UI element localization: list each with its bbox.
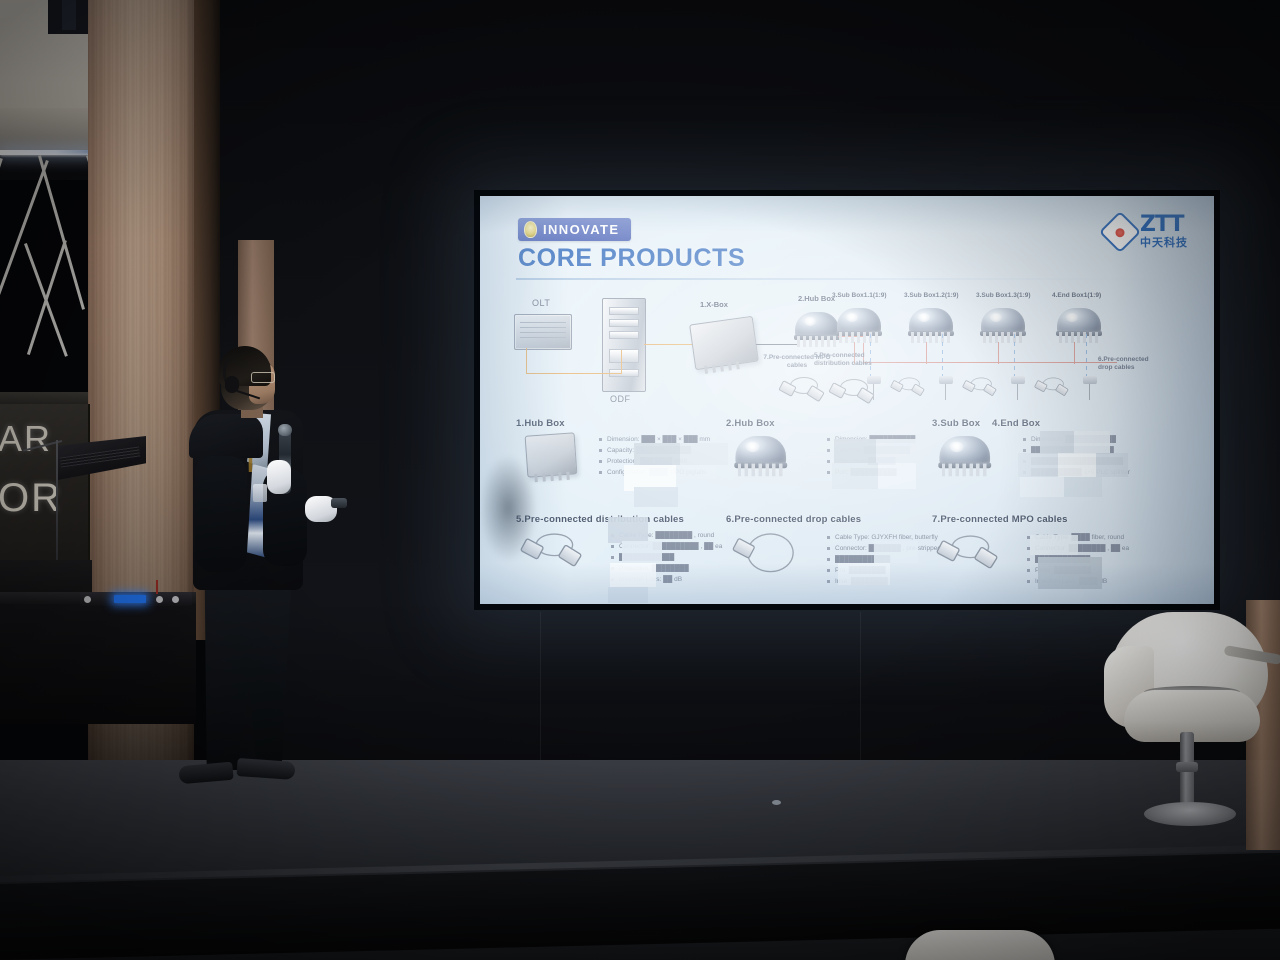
presenter [175,346,350,810]
presenter-shoulder [189,414,263,458]
sub-box-1-2-icon [906,308,956,344]
card-end-box-4: 4.End Box Dimension: ███████████ ███████… [992,418,1040,429]
sub-box-icon [936,436,1005,487]
venue-sign: AR OR [0,404,90,564]
drop-cable-icon-2 [963,377,995,394]
topology-label-xbox: 1.X-Box [700,300,728,309]
presentation-clicker [331,498,347,508]
microphone-head [278,424,292,436]
card-title: 1.Hub Box [516,418,565,429]
presenter-legs [199,584,295,770]
bullet: Prote: ████████ [1026,565,1129,576]
bullet: Insertion Loss: ██ dB [610,574,722,585]
card-bullets: Dimension: ███ × ███ × ███ mm Capacity: … [598,434,710,478]
innovate-badge-label: INNOVATE [543,222,619,237]
drop-pedestal-icon-1 [860,376,890,402]
drop-pedestal-icon-3 [1004,376,1034,402]
card-mpo-cables-7: 7.Pre-connected MPO cables Cable Type: █… [932,514,1068,525]
sign-line-2: OR [0,476,62,521]
bullet: Inse: ████████ [826,576,941,587]
topology-callout-distribution: 5.Pre-connected distribution cables [814,352,910,368]
bullet: Port: ██████████ [826,467,915,478]
white-lounge-chair [1104,612,1272,840]
bullet: Protection: ██████ [826,456,915,467]
floor-object [772,800,781,805]
presenter-gloved-hand-left [267,460,291,494]
bullet: Connector: ████████ , ██ ea [1026,543,1129,554]
bullet: Capacity: ██████████ [826,445,915,456]
bullet: Insertion Loss: ████ dB [1026,576,1129,587]
title-divider [516,278,1176,280]
mpo-cable-icon [780,376,822,398]
card-bullets: Dimension: ██████████ Capacity: ████████… [826,434,915,478]
bullet: Dimension: ███████████ [1022,434,1130,445]
bullet: ████████████████████ [1022,456,1130,467]
sign-line-1: AR [0,418,52,460]
odf-icon [602,298,646,392]
topology-label-subbox11: 3.Sub Box1.1(1:9) [832,292,887,299]
drop-cable-icon-1 [891,377,923,394]
presenter-arm-left [195,456,247,572]
bullet: Connector: ███████ , pre-stripped [826,543,941,554]
bullet: ████████████ [826,554,941,565]
topology-callout-drop: 6.Pre-connected drop cables [1098,356,1190,372]
bullet: Cable Type: ████ fiber, round [1026,532,1129,543]
upper-left-wall-shadow [0,108,92,152]
ztt-wordmark: ZTT [1140,214,1188,236]
hub-box-icon [732,436,801,487]
bullet: Configuration: ████ MPO pigtails [598,467,710,478]
chair-base [1144,802,1236,826]
olt-icon [514,314,572,350]
card-bullets: Cable Type: GJYXFH fiber, butterfly Conn… [826,532,941,587]
bullet: Dimension: ██████████ [826,434,915,445]
card-sub-box-3: 3.Sub Box [932,418,980,429]
presenter-name-badge [253,484,267,502]
white-chair-foreground [905,930,1055,960]
drop-pedestal-icon-4 [1076,376,1106,402]
bullet: Protection: ███████ IP68 [598,456,710,467]
conference-stage-photo: AR OR INNOVATE CORE PRODUCTS [0,0,1280,960]
card-bullets: Dimension: ███████████ █████████████████… [1022,434,1130,478]
topology-label-hubbox: 2.Hub Box [798,294,835,303]
av-table-body [0,604,196,724]
card-bullets: Cable Type: ████████ , round Connector: … [610,530,722,585]
audio-device-led-display [114,595,146,603]
bullet: Pro: ████████ [826,565,941,576]
card-hub-box-1: 1.Hub Box Dimension: ███ × ███ × ███ mm … [516,418,565,429]
sub-box-1-3-icon [978,308,1028,344]
topology-label-endbox1: 4.End Box1(1:9) [1052,292,1101,299]
sub-box-1-1-icon [834,308,884,344]
card-hub-box-2: 2.Hub Box Dimension: ██████████ Capacity… [726,418,775,429]
card-bullets: Cable Type: ████ fiber, round Connector:… [1026,532,1129,587]
end-box-1-icon [1054,308,1104,344]
card-title: 7.Pre-connected MPO cables [932,514,1068,525]
ztt-diamond-logo-icon [1099,210,1141,252]
slide-title: CORE PRODUCTS [518,244,745,273]
bullet: Cable Type: ████████ , round [610,530,722,541]
presentation-slide: INNOVATE CORE PRODUCTS ZTT 中天科技 OLT [480,196,1214,604]
product-cards: 1.Hub Box Dimension: ███ × ███ × ███ mm … [480,418,1214,604]
bullet: Dimension: ███ × ███ × ███ mm [598,434,710,445]
screen-cast-shadow [482,434,538,584]
topology-label-olt: OLT [532,298,550,308]
card-title: 4.End Box [992,418,1040,429]
bullet: ████████████ [1026,554,1129,565]
innovate-badge: INNOVATE [518,218,631,241]
ztt-logo: ZTT 中天科技 [1105,214,1188,249]
network-topology-diagram: OLT ODF 1.X-Box [480,292,1214,412]
topology-label-odf: ODF [610,394,631,404]
mpo-cable-icon [938,534,995,564]
drop-pedestal-icon-2 [932,376,962,402]
topology-label-subbox13: 3.Sub Box1.3(1:9) [976,292,1031,299]
projection-screen: INNOVATE CORE PRODUCTS ZTT 中天科技 OLT [480,196,1214,604]
drop-cable-icon-3 [1035,377,1067,394]
card-title: 5.Pre-connected distribution cables [516,514,684,525]
presenter-shoe-left [178,762,233,785]
lightbulb-icon [524,221,537,238]
ceiling-fixture-inner [62,0,76,30]
drop-cable-icon [734,532,789,561]
ztt-chinese-name: 中天科技 [1140,238,1188,249]
bullet: Protection: ████████ [610,563,722,574]
card-distribution-cables-5: 5.Pre-connected distribution cables Cabl… [516,514,684,525]
card-title: 2.Hub Box [726,418,775,429]
bullet: Cable Type: GJYXFH fiber, butterfly [826,532,941,543]
topology-label-subbox12: 3.Sub Box1.2(1:9) [904,292,959,299]
bullet: ████████████ [610,552,722,563]
card-title: 6.Pre-connected drop cables [726,514,861,525]
bullet: ██████████████████ [1022,445,1130,456]
presenter-shoe-right [236,758,295,780]
card-title: 3.Sub Box [932,418,980,429]
audio-device-antenna [156,580,158,594]
bullet: Capacity: ████████████ [598,445,710,456]
card-drop-cables-6: 6.Pre-connected drop cables Cable Type: … [726,514,861,525]
x-box-icon [689,316,759,370]
bullet: Connector: ██████████ , ██ ea [610,541,722,552]
chair-height-adjust [1176,762,1198,772]
bullet: ███████████ 1×9 PLC splitter [1022,467,1130,478]
